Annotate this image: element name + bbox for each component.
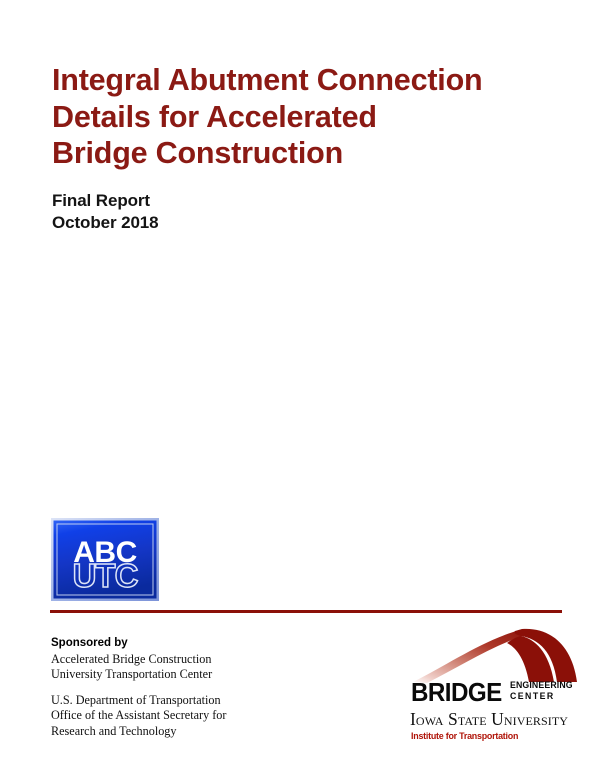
bec-center-word: CENTER <box>510 691 573 702</box>
bec-wordmark: BRIDGE ENGINEERING CENTER <box>411 679 581 705</box>
bec-bridge-word: BRIDGE <box>411 679 502 705</box>
abc-utc-bottom-text: UTC <box>73 557 138 594</box>
sponsor-org-line: Accelerated Bridge Construction <box>51 652 321 667</box>
iowa-state-university-text: Iowa State University <box>410 710 580 729</box>
sponsor-org-line: University Transportation Center <box>51 667 321 682</box>
abc-utc-logo: ABC UTC <box>51 518 159 601</box>
sponsor-agency-line: Office of the Assistant Secretary for <box>51 708 321 723</box>
subtitle-block: Final Report October 2018 <box>52 190 452 234</box>
page-title: Integral Abutment Connection Details for… <box>52 62 562 172</box>
sponsor-heading: Sponsored by <box>51 636 321 651</box>
sponsor-block: Sponsored by Accelerated Bridge Construc… <box>51 636 321 739</box>
bridge-arch-icon <box>409 622 581 684</box>
sponsor-spacer <box>51 683 321 693</box>
sponsor-agency-line: U.S. Department of Transportation <box>51 693 321 708</box>
bec-subwords: ENGINEERING CENTER <box>510 680 577 702</box>
institute-for-transportation-tagline: Institute for Transportation <box>411 730 573 741</box>
sponsor-agency-line: Research and Technology <box>51 724 321 739</box>
cover-page: Integral Abutment Connection Details for… <box>0 0 600 776</box>
bridge-engineering-center-logo: BRIDGE ENGINEERING CENTER Iowa State Uni… <box>409 622 581 748</box>
report-date: October 2018 <box>52 212 452 234</box>
bec-engineering-word: ENGINEERING <box>510 680 573 691</box>
divider-rule <box>50 610 562 613</box>
title-block: Integral Abutment Connection Details for… <box>52 62 562 172</box>
report-type: Final Report <box>52 190 452 212</box>
